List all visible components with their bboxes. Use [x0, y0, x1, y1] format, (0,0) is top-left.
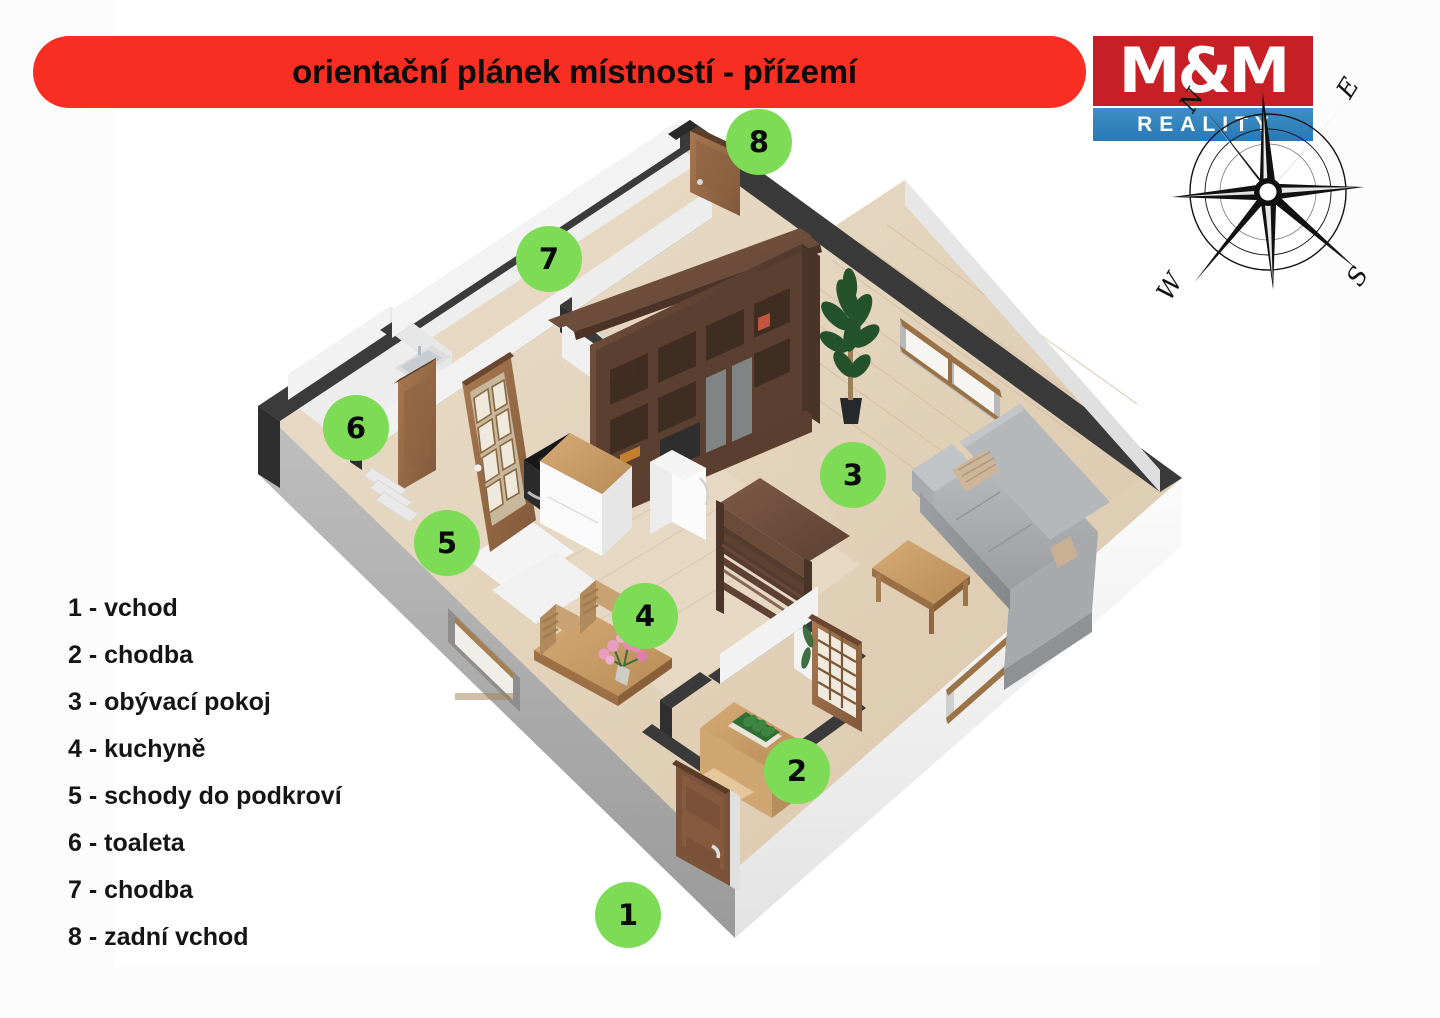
- legend-item-4: 4 - kuchyně: [68, 726, 342, 773]
- legend-item-6: 6 - toaleta: [68, 820, 342, 867]
- room-marker-label: 2: [787, 757, 807, 786]
- room-marker-label: 1: [618, 901, 638, 930]
- room-marker-label: 8: [749, 128, 769, 157]
- room-marker-3: 3: [820, 442, 886, 508]
- room-marker-label: 6: [346, 414, 366, 443]
- room-marker-6: 6: [323, 395, 389, 461]
- compass-rose: N E S W: [1150, 62, 1390, 310]
- legend-item-7: 7 - chodba: [68, 867, 342, 914]
- room-marker-8: 8: [726, 109, 792, 175]
- room-marker-label: 5: [437, 529, 457, 558]
- compass-hub: [1254, 178, 1282, 206]
- room-marker-4: 4: [612, 583, 678, 649]
- legend-item-8: 8 - zadní vchod: [68, 914, 342, 961]
- legend-item-3: 3 - obývací pokoj: [68, 679, 342, 726]
- title-banner: orientační plánek místností - přízemí: [33, 36, 1086, 108]
- room-marker-2: 2: [764, 738, 830, 804]
- compass-label-east: E: [1330, 72, 1365, 104]
- compass-label-west: W: [1150, 266, 1189, 305]
- slide-root: orientační plánek místností - přízemí M&…: [0, 0, 1440, 1018]
- legend-item-5: 5 - schody do podkroví: [68, 773, 342, 820]
- room-marker-5: 5: [414, 510, 480, 576]
- room-marker-label: 4: [635, 602, 655, 631]
- compass-label-south: S: [1340, 261, 1374, 291]
- legend-item-1: 1 - vchod: [68, 585, 342, 632]
- legend-item-2: 2 - chodba: [68, 632, 342, 679]
- room-marker-7: 7: [516, 226, 582, 292]
- room-marker-label: 7: [539, 245, 559, 274]
- compass-label-north: N: [1173, 82, 1210, 118]
- room-marker-label: 3: [843, 461, 863, 490]
- page-title: orientační plánek místností - přízemí: [262, 53, 857, 91]
- room-marker-1: 1: [595, 882, 661, 948]
- legend-list: 1 - vchod 2 - chodba 3 - obývací pokoj 4…: [68, 585, 342, 961]
